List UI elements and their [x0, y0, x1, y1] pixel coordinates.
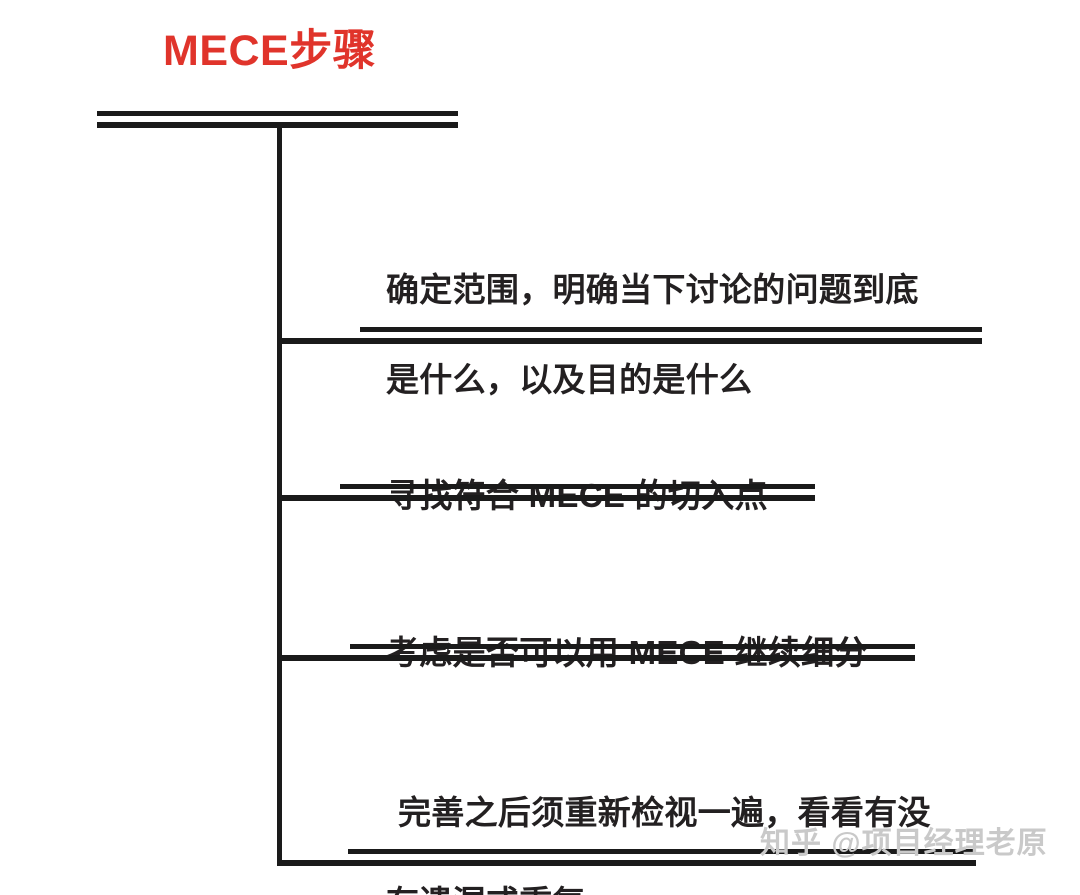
- diagram-canvas: MECE步骤 确定范围，明确当下讨论的问题到底 是什么，以及目的是什么 寻找符合…: [0, 0, 1080, 895]
- step-2-separator-lower: [277, 495, 815, 501]
- step-1-line-1: 确定范围，明确当下讨论的问题到底: [386, 267, 919, 312]
- top-rule-upper-line: [97, 111, 458, 116]
- page-title: MECE步骤: [163, 28, 376, 75]
- step-2-separator-upper: [340, 484, 815, 489]
- step-4-separator-lower: [277, 860, 976, 866]
- step-1-line-2: 是什么，以及目的是什么: [386, 357, 919, 402]
- step-4-separator-upper: [348, 849, 976, 854]
- step-3-line-1: 考虑是否可以用 MECE 继续细分: [386, 630, 868, 675]
- step-item-3: 考虑是否可以用 MECE 继续细分: [386, 585, 868, 720]
- step-1-separator-lower: [277, 338, 982, 344]
- step-item-4: 完善之后须重新检视一遍，看看有没 有遗漏或重复: [386, 745, 931, 895]
- step-item-1: 确定范围，明确当下讨论的问题到底 是什么，以及目的是什么: [386, 222, 919, 447]
- step-1-separator-upper: [360, 327, 982, 332]
- step-3-separator-lower: [277, 655, 915, 661]
- step-4-line-2: 有遗漏或重复: [386, 880, 931, 895]
- step-3-separator-upper: [350, 644, 915, 649]
- vertical-spine-line: [277, 122, 282, 863]
- step-4-line-1: 完善之后须重新检视一遍，看看有没: [386, 790, 931, 835]
